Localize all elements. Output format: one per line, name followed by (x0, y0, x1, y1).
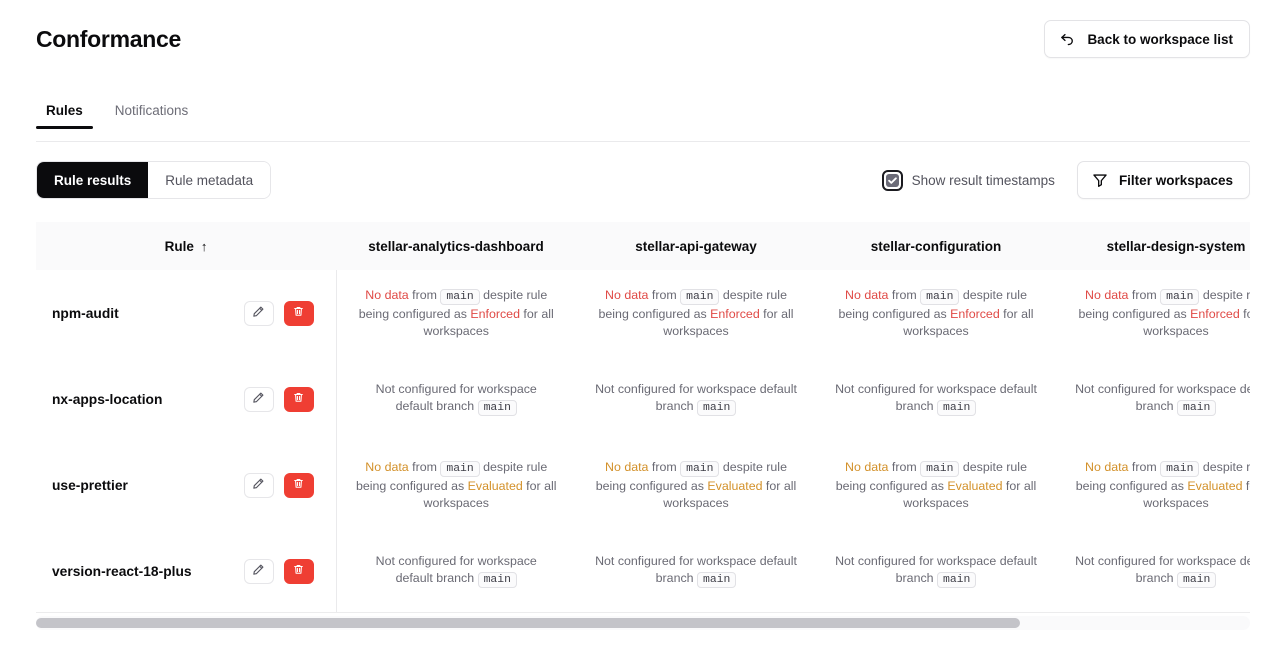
message-text: from (888, 288, 920, 302)
rule-actions (244, 301, 314, 326)
segment-rule-metadata[interactable]: Rule metadata (148, 162, 270, 198)
rule-result-message: No data from main despite rule being con… (577, 287, 815, 340)
rule-result-cell: No data from main despite rule being con… (576, 270, 816, 356)
tab-bar: Rules Notifications (0, 104, 1286, 142)
trash-icon (292, 563, 305, 579)
filter-button-label: Filter workspaces (1119, 173, 1233, 188)
show-result-timestamps-checkbox[interactable]: Show result timestamps (882, 170, 1055, 191)
pencil-icon (252, 477, 265, 493)
branch-chip: main (697, 572, 736, 588)
status-highlight: No data (365, 460, 408, 474)
rule-name-cell: nx-apps-location (36, 356, 336, 442)
status-highlight: Enforced (950, 307, 1000, 321)
message-text: from (888, 460, 920, 474)
rule-result-message: Not configured for workspace default bra… (577, 553, 815, 589)
message-text: Not configured for workspace default bra… (1075, 554, 1250, 585)
branch-chip: main (1160, 461, 1199, 477)
rule-result-message: Not configured for workspace default bra… (817, 381, 1055, 417)
status-highlight: Evaluated (707, 479, 762, 493)
branch-chip: main (937, 400, 976, 416)
rule-actions (244, 473, 314, 498)
message-text: from (1128, 288, 1160, 302)
rules-table-scroll-area[interactable]: Rule ↑ stellar-analytics-dashboard stell… (36, 222, 1250, 612)
page-title: Conformance (36, 28, 181, 51)
back-to-workspace-list-button[interactable]: Back to workspace list (1044, 20, 1250, 58)
rules-table: Rule ↑ stellar-analytics-dashboard stell… (36, 222, 1250, 612)
rule-result-message: Not configured for workspace default bra… (338, 553, 576, 589)
table-header-row: Rule ↑ stellar-analytics-dashboard stell… (36, 222, 1250, 270)
branch-chip: main (920, 289, 959, 305)
branch-chip: main (478, 572, 517, 588)
toolbar: Rule results Rule metadata Show result t… (0, 160, 1286, 200)
branch-chip: main (478, 400, 517, 416)
rule-name: version-react-18-plus (52, 564, 192, 579)
message-text: from (648, 288, 680, 302)
status-highlight: Evaluated (1187, 479, 1242, 493)
message-text: Not configured for workspace default bra… (835, 554, 1037, 585)
rule-result-cell: Not configured for workspace default bra… (1056, 356, 1250, 442)
table-head: Rule ↑ stellar-analytics-dashboard stell… (36, 222, 1250, 270)
status-highlight: No data (1085, 460, 1128, 474)
table-body: npm-auditNo data from main despite rule … (36, 270, 1250, 612)
branch-chip: main (680, 289, 719, 305)
branch-chip: main (680, 461, 719, 477)
column-header-workspace[interactable]: stellar-api-gateway (576, 222, 816, 270)
status-highlight: Enforced (1190, 307, 1240, 321)
status-highlight: No data (845, 288, 888, 302)
rule-result-cell: Not configured for workspace default bra… (336, 528, 576, 612)
segment-rule-results[interactable]: Rule results (37, 162, 148, 198)
branch-chip: main (1177, 572, 1216, 588)
trash-icon (292, 391, 305, 407)
conformance-page: Conformance Back to workspace list Rules… (0, 0, 1286, 667)
pencil-icon (252, 563, 265, 579)
rule-result-cell: No data from main despite rule being con… (576, 442, 816, 528)
view-mode-segmented-control: Rule results Rule metadata (36, 161, 271, 199)
funnel-icon (1092, 172, 1108, 188)
message-text: Not configured for workspace default bra… (595, 554, 797, 585)
rule-result-message: Not configured for workspace default bra… (577, 381, 815, 417)
tab-notifications[interactable]: Notifications (105, 104, 199, 129)
column-header-workspace[interactable]: stellar-design-system (1056, 222, 1250, 270)
branch-chip: main (920, 461, 959, 477)
rule-name: nx-apps-location (52, 392, 162, 407)
toolbar-right-group: Show result timestamps Filter workspaces (882, 161, 1250, 199)
status-highlight: Enforced (470, 307, 520, 321)
rule-result-message: No data from main despite rule being con… (817, 459, 1055, 512)
pencil-icon (252, 391, 265, 407)
rule-result-cell: Not configured for workspace default bra… (816, 356, 1056, 442)
delete-rule-button[interactable] (284, 559, 314, 584)
rule-actions (244, 387, 314, 412)
branch-chip: main (440, 289, 479, 305)
page-header: Conformance Back to workspace list (0, 0, 1286, 78)
rule-name: use-prettier (52, 478, 128, 493)
rule-result-cell: No data from main despite rule being con… (336, 442, 576, 528)
status-highlight: No data (605, 460, 648, 474)
rule-result-cell: No data from main despite rule being con… (336, 270, 576, 356)
column-header-rule[interactable]: Rule ↑ (36, 222, 336, 270)
rule-name-cell: version-react-18-plus (36, 528, 336, 612)
rule-result-cell: No data from main despite rule being con… (1056, 442, 1250, 528)
rule-result-cell: Not configured for workspace default bra… (576, 528, 816, 612)
status-highlight: No data (365, 288, 408, 302)
tab-rules[interactable]: Rules (36, 104, 93, 129)
rule-name-cell: use-prettier (36, 442, 336, 528)
rule-result-cell: Not configured for workspace default bra… (816, 528, 1056, 612)
rule-result-cell: Not configured for workspace default bra… (1056, 528, 1250, 612)
edit-rule-button[interactable] (244, 301, 274, 326)
rule-result-message: No data from main despite rule being con… (1057, 459, 1250, 512)
rule-result-message: Not configured for workspace default bra… (1057, 553, 1250, 589)
back-button-label: Back to workspace list (1087, 32, 1233, 47)
message-text: from (1128, 460, 1160, 474)
status-highlight: No data (605, 288, 648, 302)
delete-rule-button[interactable] (284, 473, 314, 498)
rule-result-cell: No data from main despite rule being con… (816, 442, 1056, 528)
table-row: nx-apps-locationNot configured for works… (36, 356, 1250, 442)
rule-name-cell: npm-audit (36, 270, 336, 356)
rule-result-cell: No data from main despite rule being con… (816, 270, 1056, 356)
edit-rule-button[interactable] (244, 387, 274, 412)
column-header-rule-label: Rule (165, 239, 194, 254)
filter-workspaces-button[interactable]: Filter workspaces (1077, 161, 1250, 199)
trash-icon (292, 477, 305, 493)
pencil-icon (252, 305, 265, 321)
branch-chip: main (937, 572, 976, 588)
status-highlight: Evaluated (947, 479, 1002, 493)
rule-result-message: No data from main despite rule being con… (577, 459, 815, 512)
trash-icon (292, 305, 305, 321)
table-row: npm-auditNo data from main despite rule … (36, 270, 1250, 356)
status-highlight: No data (845, 460, 888, 474)
edit-rule-button[interactable] (244, 473, 274, 498)
message-text: from (648, 460, 680, 474)
rule-result-message: Not configured for workspace default bra… (817, 553, 1055, 589)
checkbox-focus-ring (882, 170, 903, 191)
column-header-workspace[interactable]: stellar-analytics-dashboard (336, 222, 576, 270)
sort-ascending-icon: ↑ (201, 239, 208, 254)
table-bottom-divider (36, 612, 1250, 613)
rule-result-cell: Not configured for workspace default bra… (576, 356, 816, 442)
message-text: Not configured for workspace default bra… (595, 382, 797, 413)
message-text: Not configured for workspace default bra… (835, 382, 1037, 413)
message-text: from (409, 460, 441, 474)
edit-rule-button[interactable] (244, 559, 274, 584)
rule-result-message: No data from main despite rule being con… (1057, 287, 1250, 340)
delete-rule-button[interactable] (284, 387, 314, 412)
message-text: Not configured for workspace default bra… (1075, 382, 1250, 413)
horizontal-scrollbar-track[interactable] (36, 616, 1250, 630)
rule-result-message: No data from main despite rule being con… (338, 287, 576, 340)
branch-chip: main (1177, 400, 1216, 416)
table-row: use-prettierNo data from main despite ru… (36, 442, 1250, 528)
column-header-workspace[interactable]: stellar-configuration (816, 222, 1056, 270)
undo-arrow-icon (1059, 31, 1076, 48)
rule-result-message: Not configured for workspace default bra… (1057, 381, 1250, 417)
branch-chip: main (697, 400, 736, 416)
rule-result-cell: No data from main despite rule being con… (1056, 270, 1250, 356)
rule-result-message: Not configured for workspace default bra… (338, 381, 576, 417)
horizontal-scrollbar-thumb[interactable] (36, 618, 1020, 628)
status-highlight: Evaluated (468, 479, 523, 493)
table-row: version-react-18-plusNot configured for … (36, 528, 1250, 612)
branch-chip: main (440, 461, 479, 477)
message-text: from (409, 288, 441, 302)
status-highlight: Enforced (710, 307, 760, 321)
rule-result-message: No data from main despite rule being con… (817, 287, 1055, 340)
checkbox-box-checked (886, 174, 899, 187)
rule-name: npm-audit (52, 306, 119, 321)
checkbox-label: Show result timestamps (912, 173, 1055, 188)
delete-rule-button[interactable] (284, 301, 314, 326)
branch-chip: main (1160, 289, 1199, 305)
rule-result-cell: Not configured for workspace default bra… (336, 356, 576, 442)
status-highlight: No data (1085, 288, 1128, 302)
rule-result-message: No data from main despite rule being con… (338, 459, 576, 512)
rule-actions (244, 559, 314, 584)
